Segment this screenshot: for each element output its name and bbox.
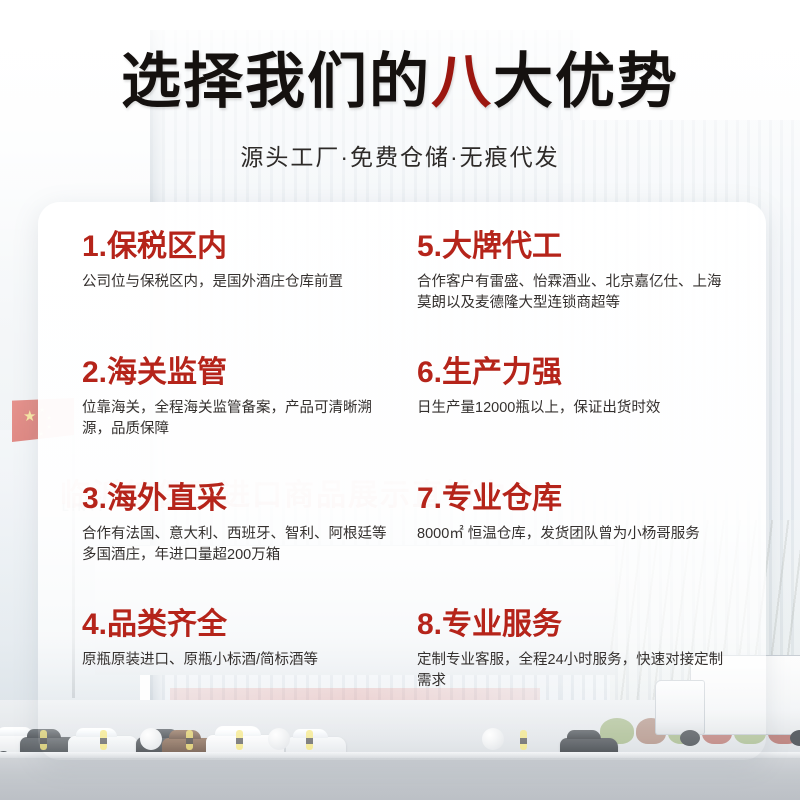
advantage-item-3[interactable]: 3.海外直采 合作有法国、意大利、西班牙、智利、阿根廷等多国酒庄，年进口量超20… [82,482,405,608]
advantage-desc-8: 定制专业客服，全程24小时服务，快速对接定制需求 [417,650,732,692]
page-title-prefix: 选择我们的 [121,49,431,115]
advantage-title-1: 1.保税区内 [82,230,397,263]
advantage-desc-4: 原瓶原装进口、原瓶小标酒/简标酒等 [82,650,397,671]
advantage-desc-2: 位靠海关，全程海关监管备案，产品可清晰溯源，品质保障 [82,398,397,440]
advantage-item-2[interactable]: 2.海关监管 位靠海关，全程海关监管备案，产品可清晰溯源，品质保障 [82,356,405,482]
advantage-item-5[interactable]: 5.大牌代工 合作客户有雷盛、怡霖酒业、北京嘉亿仕、上海莫朗以及麦德隆大型连锁商… [417,230,740,356]
advantage-desc-5: 合作客户有雷盛、怡霖酒业、北京嘉亿仕、上海莫朗以及麦德隆大型连锁商超等 [417,272,732,314]
advantage-item-4[interactable]: 4.品类齐全 原瓶原装进口、原瓶小标酒/简标酒等 [82,608,405,734]
advantage-title-2: 2.海关监管 [82,356,397,389]
advantage-title-6: 6.生产力强 [417,356,732,389]
advantages-grid: 1.保税区内 公司位与保税区内，是国外酒庄仓库前置 5.大牌代工 合作客户有雷盛… [38,202,766,760]
advantage-item-7[interactable]: 7.专业仓库 8000㎡ 恒温仓库，发货团队曾为小杨哥服务 [417,482,740,608]
advantage-desc-1: 公司位与保税区内，是国外酒庄仓库前置 [82,272,397,293]
advantage-title-7: 7.专业仓库 [417,482,732,515]
advantage-title-8: 8.专业服务 [417,608,732,641]
promo-page: ★ ★ ★ ★ ★ [0,0,800,800]
advantage-item-1[interactable]: 1.保税区内 公司位与保税区内，是国外酒庄仓库前置 [82,230,405,356]
advantage-desc-7: 8000㎡ 恒温仓库，发货团队曾为小杨哥服务 [417,524,732,545]
advantage-item-6[interactable]: 6.生产力强 日生产量12000瓶以上，保证出货时效 [417,356,740,482]
page-title-suffix: 大优势 [493,49,679,115]
advantage-title-4: 4.品类齐全 [82,608,397,641]
page-title-accent: 八 [431,49,493,115]
advantage-title-3: 3.海外直采 [82,482,397,515]
advantage-desc-3: 合作有法国、意大利、西班牙、智利、阿根廷等多国酒庄，年进口量超200万箱 [82,524,397,566]
page-title: 选择我们的八大优势 [0,52,800,112]
page-header: 选择我们的八大优势 源头工厂·免费仓储·无痕代发 [0,0,800,172]
page-subtitle: 源头工厂·免费仓储·无痕代发 [0,138,800,172]
advantage-desc-6: 日生产量12000瓶以上，保证出货时效 [417,398,732,419]
advantage-item-8[interactable]: 8.专业服务 定制专业客服，全程24小时服务，快速对接定制需求 [417,608,740,734]
advantage-title-5: 5.大牌代工 [417,230,732,263]
